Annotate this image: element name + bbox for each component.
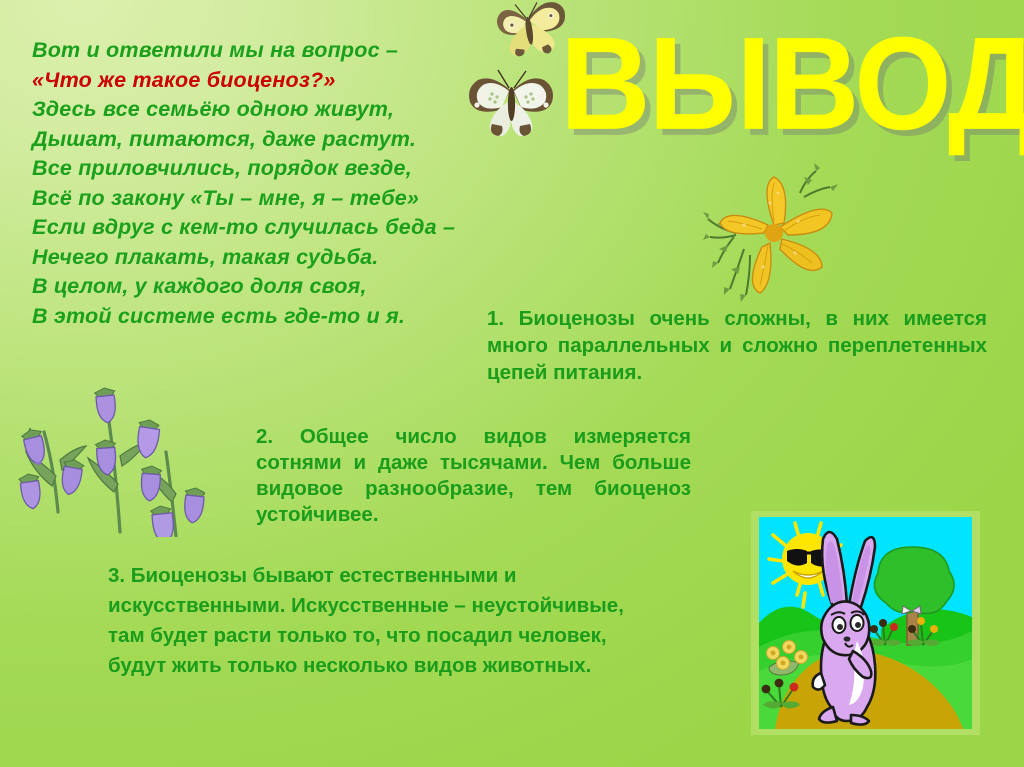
poem-line: Нечего плакать, такая судьба. <box>32 243 472 273</box>
conclusion-item-2: 2. Общее число видов измеряется сотнями … <box>256 424 691 528</box>
page-title: ВЫВОД: <box>560 18 1024 150</box>
conclusion-item-1: 1. Биоценозы очень сложны, в них имеется… <box>487 305 987 386</box>
poem-line: Все приловчились, порядок везде, <box>32 154 472 184</box>
bluebell-flowers-decoration <box>0 352 205 537</box>
poem-line: Вот и ответили мы на вопрос – <box>32 36 472 66</box>
poem-line: В целом, у каждого доля своя, <box>32 272 472 302</box>
conclusion-item-3: 3. Биоценозы бывают естественными и иску… <box>108 561 628 681</box>
yellow-flower-decoration <box>700 163 850 308</box>
butterflies-decoration <box>460 0 590 140</box>
poem-line: Если вдруг с кем-то случилась беда – <box>32 213 472 243</box>
poem-line-accent: «Что же такое биоценоз?» <box>32 66 472 96</box>
poem-line: Всё по закону «Ты – мне, я – тебе» <box>32 184 472 214</box>
bunny-meadow-icon <box>751 511 980 735</box>
bunny-meadow-illustration <box>751 511 980 735</box>
poem-block: Вот и ответили мы на вопрос – «Что же та… <box>32 36 472 331</box>
butterfly-yellow-icon <box>460 0 590 140</box>
poem-line: Здесь все семьёю одною живут, <box>32 95 472 125</box>
poem-line: Дышат, питаются, даже растут. <box>32 125 472 155</box>
bluebell-flowers-icon <box>0 352 205 537</box>
poem-line: В этой системе есть где-то и я. <box>32 302 472 332</box>
yellow-flower-icon <box>700 163 850 308</box>
slide-canvas: Вот и ответили мы на вопрос – «Что же та… <box>0 0 1024 767</box>
